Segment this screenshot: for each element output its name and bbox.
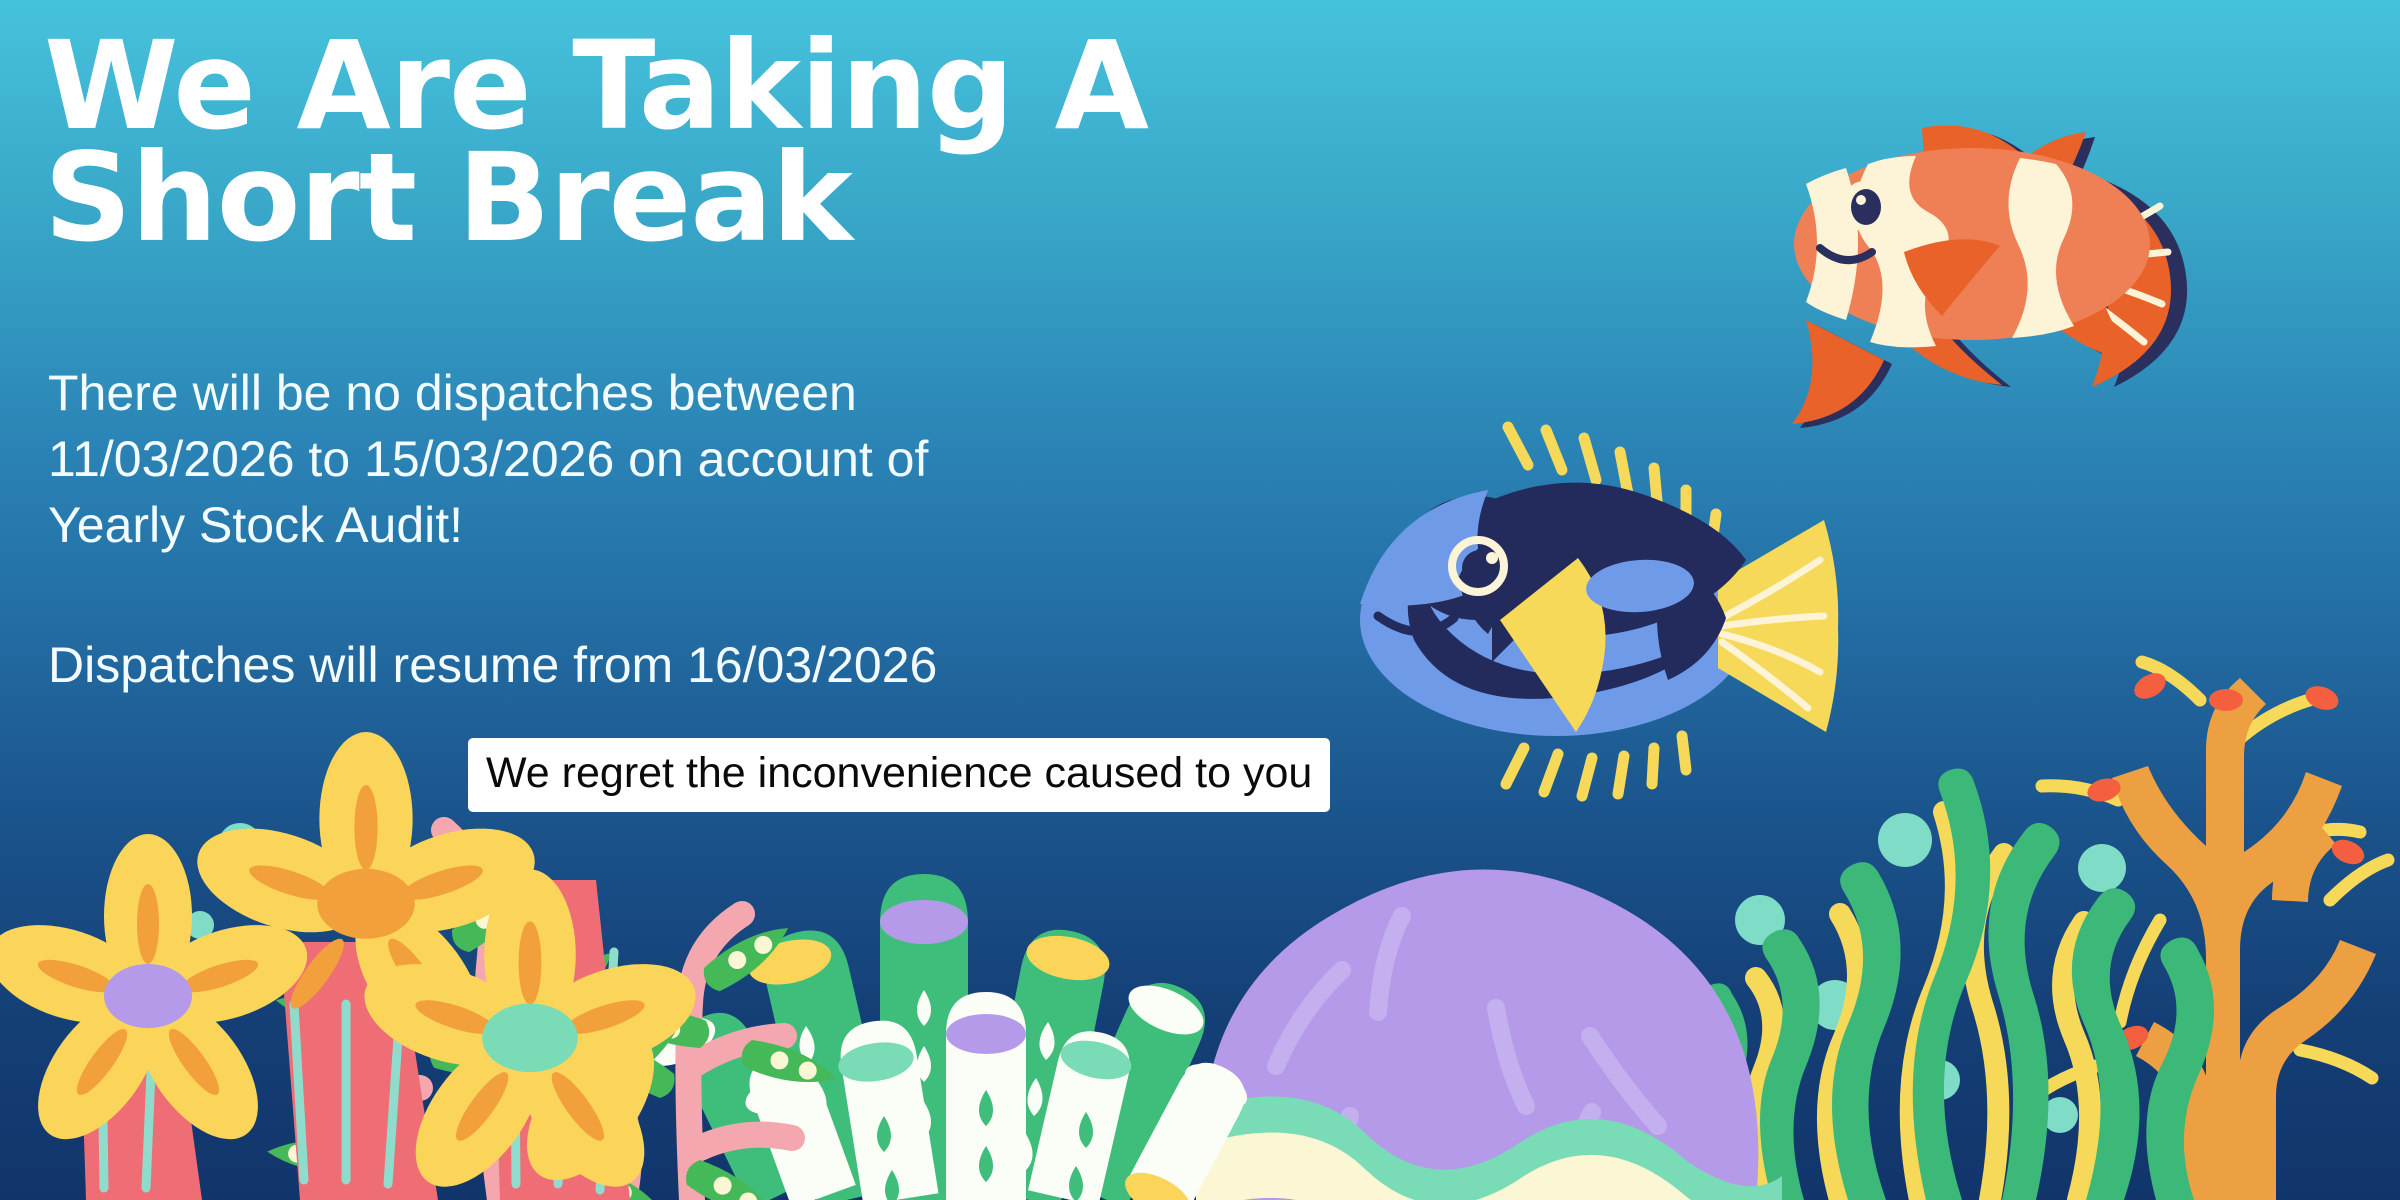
body-paragraph: There will be no dispatches between 11/0… xyxy=(48,360,1224,558)
underwater-announcement-banner: We Are Taking A Short Break There will b… xyxy=(0,0,2400,1200)
resume-line: Dispatches will resume from 16/03/2026 xyxy=(48,636,1224,694)
regret-note: We regret the inconvenience caused to yo… xyxy=(468,738,1330,812)
regret-note-wrapper: We regret the inconvenience caused to yo… xyxy=(468,738,1224,812)
page-title: We Are Taking A Short Break xyxy=(44,30,1224,254)
purple-dome-clam xyxy=(1196,869,1782,1200)
announcement-text-block: We Are Taking A Short Break There will b… xyxy=(44,30,1224,812)
